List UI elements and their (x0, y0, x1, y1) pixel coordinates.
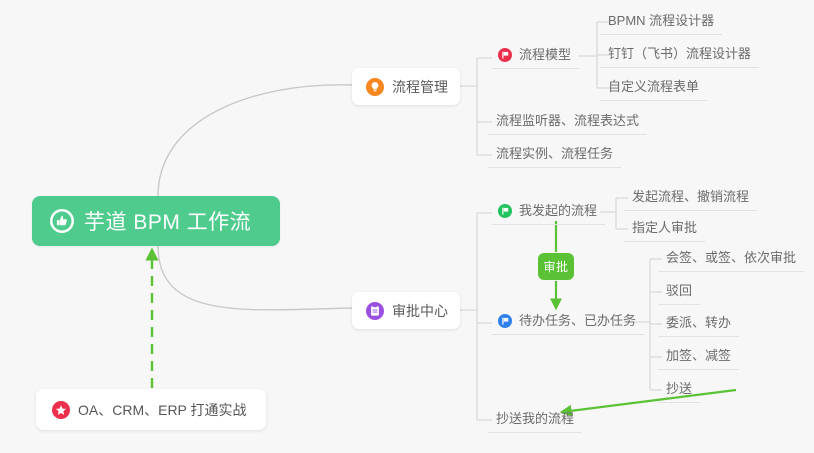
lightbulb-icon (366, 78, 384, 96)
node-start-cancel-process-label: 发起流程、撤销流程 (632, 188, 749, 205)
node-delegate-transfer-label: 委派、转办 (666, 314, 731, 331)
node-process-model-label: 流程模型 (519, 46, 571, 63)
node-add-remove-sign[interactable]: 加签、减签 (658, 347, 739, 370)
node-start-cancel-process[interactable]: 发起流程、撤销流程 (624, 188, 757, 211)
connector-root-to-approve (158, 246, 352, 310)
node-bpmn-designer-label: BPMN 流程设计器 (608, 12, 714, 29)
card-integration-practice[interactable]: OA、CRM、ERP 打通实战 (36, 389, 266, 430)
node-delegate-transfer[interactable]: 委派、转办 (658, 314, 739, 337)
node-carbon-copy[interactable]: 抄送 (658, 380, 700, 403)
node-dingtalk-feishu-designer-label: 钉钉（飞书）流程设计器 (608, 45, 751, 62)
thumbs-up-icon (50, 209, 74, 233)
node-my-initiated-processes-label: 我发起的流程 (519, 202, 597, 219)
flag-glyph (498, 314, 512, 328)
node-process-instance-task[interactable]: 流程实例、流程任务 (488, 145, 621, 168)
node-my-initiated-processes[interactable]: 我发起的流程 (492, 202, 605, 225)
card-integration-practice-label: OA、CRM、ERP 打通实战 (78, 400, 247, 420)
node-dingtalk-feishu-designer[interactable]: 钉钉（飞书）流程设计器 (600, 45, 759, 68)
branch-approval-center[interactable]: 审批中心 (352, 292, 460, 329)
annotation-badge-approve: 审批 (538, 253, 574, 280)
node-process-model[interactable]: 流程模型 (492, 46, 579, 69)
node-countersign-or-sequential-label: 会签、或签、依次审批 (666, 249, 796, 266)
node-assignee-approval-label: 指定人审批 (632, 219, 697, 236)
node-custom-process-form-label: 自定义流程表单 (608, 78, 699, 95)
branch-approval-center-label: 审批中心 (392, 301, 448, 321)
annotation-badge-approve-label: 审批 (543, 258, 568, 275)
branch-process-management-label: 流程管理 (392, 77, 448, 97)
connector-root-to-process (158, 85, 352, 196)
root-label: 芋道 BPM 工作流 (84, 206, 251, 236)
mindmap-canvas: 芋道 BPM 工作流 流程管理 流程模型 BPMN 流程设计器 钉钉（飞书）流程… (0, 0, 814, 453)
lightbulb-glyph (366, 78, 384, 96)
node-process-listener-expression[interactable]: 流程监听器、流程表达式 (488, 112, 647, 135)
flag-icon (498, 204, 512, 218)
branch-process-management[interactable]: 流程管理 (352, 68, 460, 105)
node-reject[interactable]: 驳回 (658, 282, 700, 305)
annotation-arrow-cc (562, 390, 736, 412)
clipboard-glyph (366, 302, 384, 320)
node-assignee-approval[interactable]: 指定人审批 (624, 219, 705, 242)
node-reject-label: 驳回 (666, 282, 692, 299)
flag-icon (498, 314, 512, 328)
thumbs-up-glyph (50, 209, 74, 233)
node-custom-process-form[interactable]: 自定义流程表单 (600, 78, 707, 101)
star-glyph (52, 401, 70, 419)
flag-icon (498, 48, 512, 62)
node-cc-to-me-processes[interactable]: 抄送我的流程 (488, 410, 582, 433)
clipboard-icon (366, 302, 384, 320)
node-cc-to-me-processes-label: 抄送我的流程 (496, 410, 574, 427)
node-carbon-copy-label: 抄送 (666, 380, 692, 397)
node-todo-done-tasks-label: 待办任务、已办任务 (519, 312, 636, 329)
node-todo-done-tasks[interactable]: 待办任务、已办任务 (492, 312, 644, 335)
node-countersign-or-sequential[interactable]: 会签、或签、依次审批 (658, 249, 804, 272)
node-process-instance-task-label: 流程实例、流程任务 (496, 145, 613, 162)
star-icon (52, 401, 70, 419)
node-bpmn-designer[interactable]: BPMN 流程设计器 (600, 12, 722, 35)
flag-glyph (498, 204, 512, 218)
root-node[interactable]: 芋道 BPM 工作流 (32, 196, 280, 246)
node-process-listener-expression-label: 流程监听器、流程表达式 (496, 112, 639, 129)
flag-glyph (498, 48, 512, 62)
node-add-remove-sign-label: 加签、减签 (666, 347, 731, 364)
